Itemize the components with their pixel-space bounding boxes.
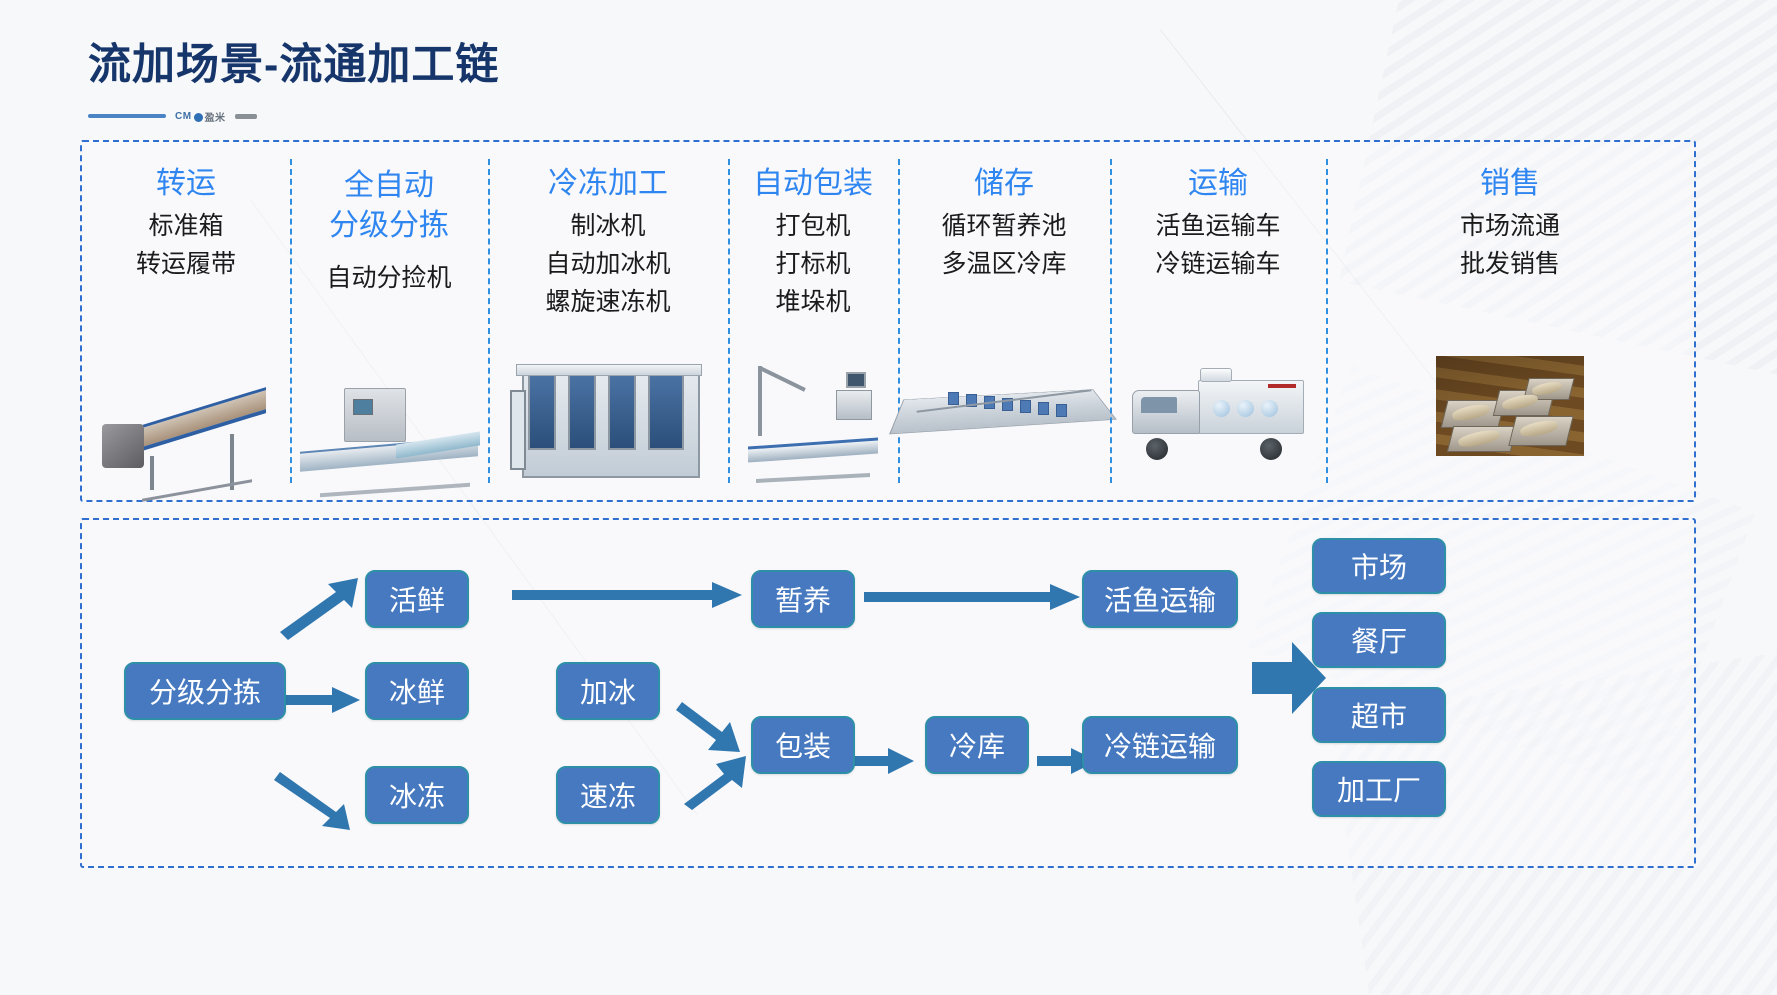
divider-blue-line: [88, 114, 166, 118]
processing-stages-panel: 转运 标准箱 转运履带 全自动 分级分拣 自动分捡机: [80, 140, 1696, 502]
flow-node-quickfreeze[interactable]: 速冻: [556, 766, 660, 824]
brand-logo-dot-icon: [194, 113, 203, 122]
divider-gray-line: [235, 114, 257, 119]
header-divider: CM 盈米: [88, 109, 499, 123]
flow-node-livetrans[interactable]: 活鱼运输: [1082, 570, 1238, 628]
flow-arrow-holding-to-livetrans: [864, 584, 1082, 610]
stage-item-list: 打包机 打标机 堆垛机: [775, 207, 850, 321]
stage-title: 冷冻加工: [548, 166, 668, 201]
stage-item: 制冰机: [545, 207, 670, 245]
page-header: 流加场景-流通加工链 CM 盈米: [88, 30, 499, 123]
stage-item: 冷链运输车: [1155, 245, 1280, 283]
stage-item: 打标机: [775, 245, 850, 283]
stage-column-transport: 运输 活鱼运输车 冷链运输车: [1110, 142, 1326, 500]
brand-logo: CM 盈米: [175, 109, 226, 124]
stage-item: 市场流通: [1460, 207, 1560, 245]
stage-item: 转运履带: [136, 245, 236, 283]
process-flow-panel: 分级分拣 活鲜 冰鲜 冰冻 加冰 速冻 暂养 包装 活鱼运输 冷库 冷链运输 市…: [80, 518, 1696, 868]
stage-title: 销售: [1480, 166, 1540, 201]
flow-node-supermarket[interactable]: 超市: [1312, 687, 1446, 743]
stage-item-list: 市场流通 批发销售: [1460, 207, 1560, 283]
flow-arrow-sorting-to-live: [278, 578, 368, 636]
stage-title: 储存: [974, 166, 1034, 201]
flow-node-icing[interactable]: 加冰: [556, 662, 660, 720]
stage-title: 转运: [156, 166, 216, 201]
flow-node-chilled[interactable]: 冰鲜: [365, 662, 469, 720]
stage-title: 自动包装: [753, 166, 873, 201]
flow-node-live[interactable]: 活鲜: [365, 570, 469, 628]
flow-node-coldchain[interactable]: 冷链运输: [1082, 716, 1238, 774]
brand-logo-cn: 盈米: [205, 109, 226, 124]
conveyor-belt-photo: [102, 372, 270, 492]
stage-title-line: 分级分拣: [329, 206, 449, 246]
spiral-freezer-photo: [510, 360, 706, 492]
stage-item: 标准箱: [136, 207, 236, 245]
stage-item: 批发销售: [1460, 245, 1560, 283]
page-title: 流加场景-流通加工链: [88, 30, 499, 92]
stage-column-auto-packaging: 自动包装 打包机 打标机 堆垛机: [728, 142, 898, 500]
flow-arrow-live-to-holding: [512, 582, 744, 608]
stage-column-storage: 储存 循环暂养池 多温区冷库: [898, 142, 1110, 500]
stage-item: 多温区冷库: [941, 245, 1066, 283]
stage-item: 循环暂养池: [941, 207, 1066, 245]
cold-storage-photo: [900, 366, 1108, 452]
flow-arrow-sorting-to-chilled: [280, 685, 362, 715]
stage-item: 活鱼运输车: [1155, 207, 1280, 245]
stage-title-line: 全自动: [329, 166, 449, 206]
stage-item-list: 制冰机 自动加冰机 螺旋速冻机: [545, 207, 670, 321]
stage-title: 全自动 分级分拣: [329, 166, 449, 245]
flow-node-holding[interactable]: 暂养: [751, 570, 855, 628]
flow-node-restaurant[interactable]: 餐厅: [1312, 612, 1446, 668]
stage-item-list: 循环暂养池 多温区冷库: [941, 207, 1066, 283]
stage-column-auto-grading: 全自动 分级分拣 自动分捡机: [290, 142, 488, 500]
flow-node-frozen[interactable]: 冰冻: [365, 766, 469, 824]
stage-column-sales: 销售 市场流通 批发销售: [1326, 142, 1694, 500]
flow-arrow-sorting-to-frozen: [278, 768, 368, 830]
flow-node-packing[interactable]: 包装: [751, 716, 855, 774]
stage-item: 螺旋速冻机: [545, 283, 670, 321]
stage-item-list: 标准箱 转运履带: [136, 207, 236, 283]
stage-column-freeze-processing: 冷冻加工 制冰机 自动加冰机 螺旋速冻机: [488, 142, 728, 500]
stage-item: 自动分捡机: [326, 259, 451, 297]
flow-node-coldstore[interactable]: 冷库: [925, 716, 1029, 774]
flow-arrow-packing-to-coldstore: [854, 748, 916, 774]
stage-title: 运输: [1188, 166, 1248, 201]
flow-node-sorting[interactable]: 分级分拣: [124, 662, 286, 720]
flow-node-market[interactable]: 市场: [1312, 538, 1446, 594]
stage-item-list: 活鱼运输车 冷链运输车: [1155, 207, 1280, 283]
flow-node-factory[interactable]: 加工厂: [1312, 761, 1446, 817]
stage-column-transfer: 转运 标准箱 转运履带: [82, 142, 290, 500]
flow-arrow-icing-to-packing: [682, 698, 754, 760]
stage-item: 自动加冰机: [545, 245, 670, 283]
stage-item: 打包机: [775, 207, 850, 245]
fish-market-photo: [1436, 356, 1584, 456]
flow-arrow-quickfreeze-to-packing: [684, 748, 756, 810]
refrigerated-truck-photo: [1132, 362, 1304, 466]
packing-machine-photo: [748, 360, 878, 480]
sorting-machine-photo: [300, 386, 478, 492]
stage-item: 堆垛机: [775, 283, 850, 321]
brand-logo-cm: CM: [175, 111, 192, 122]
stage-item-list: 自动分捡机: [326, 259, 451, 297]
